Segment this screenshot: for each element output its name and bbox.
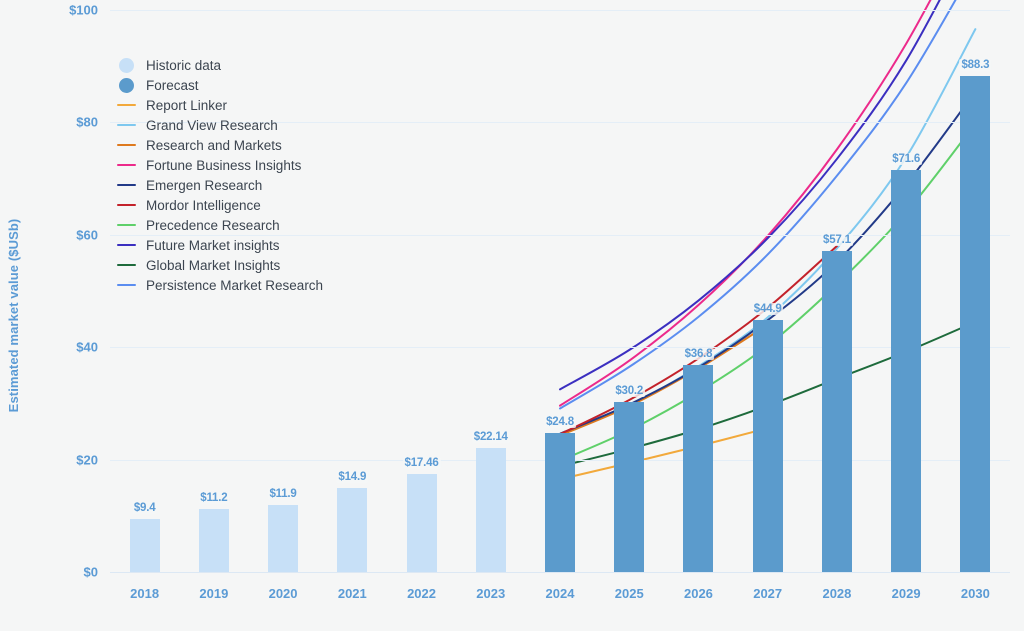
bar-value-label-2030: $88.3: [959, 59, 991, 71]
bar-2019[interactable]: [199, 509, 229, 572]
legend-item-label: Grand View Research: [146, 118, 278, 133]
legend-item-precedence-research[interactable]: Precedence Research: [112, 215, 323, 235]
y-axis-tick-label: $80: [76, 115, 98, 130]
legend-line-icon: [112, 284, 140, 287]
x-axis-tick-label[interactable]: 2027: [753, 586, 782, 601]
legend-line-icon: [112, 124, 140, 127]
legend-item-mordor-intelligence[interactable]: Mordor Intelligence: [112, 195, 323, 215]
legend-item-label: Persistence Market Research: [146, 278, 323, 293]
chart-legend: Historic dataForecastReport LinkerGrand …: [112, 55, 323, 295]
y-axis-tick-label: $60: [76, 227, 98, 242]
bar-2028[interactable]: [822, 251, 852, 572]
bar-2025[interactable]: [614, 402, 644, 572]
legend-item-label: Precedence Research: [146, 218, 280, 233]
legend-swatch: [117, 204, 136, 207]
legend-swatch: [119, 58, 134, 73]
legend-item-label: Research and Markets: [146, 138, 282, 153]
legend-item-label: Forecast: [146, 78, 199, 93]
x-axis-baseline: [110, 572, 1010, 573]
legend-swatch: [117, 184, 136, 187]
legend-item-emergen-research[interactable]: Emergen Research: [112, 175, 323, 195]
legend-item-grand-view-research[interactable]: Grand View Research: [112, 115, 323, 135]
legend-item-future-market-insights[interactable]: Future Market insights: [112, 235, 323, 255]
market-forecast-chart: Estimated market value ($USb) $0$20$40$6…: [0, 0, 1024, 631]
y-axis-tick-label: $0: [84, 565, 98, 580]
legend-swatch: [117, 104, 136, 107]
y-axis-tick-label: $40: [76, 340, 98, 355]
bar-value-label-2020: $11.9: [267, 488, 298, 500]
legend-item-forecast[interactable]: Forecast: [112, 75, 323, 95]
bar-2021[interactable]: [337, 488, 367, 572]
x-axis-tick-label[interactable]: 2018: [130, 586, 159, 601]
legend-line-icon: [112, 164, 140, 167]
legend-item-label: Report Linker: [146, 98, 227, 113]
legend-item-label: Future Market insights: [146, 238, 280, 253]
x-axis-tick-label[interactable]: 2026: [684, 586, 713, 601]
bar-2018[interactable]: [130, 519, 160, 572]
x-axis-tick-label[interactable]: 2022: [407, 586, 436, 601]
bar-value-label-2018: $9.4: [132, 502, 158, 514]
legend-item-research-and-markets[interactable]: Research and Markets: [112, 135, 323, 155]
legend-swatch: [117, 164, 136, 167]
bar-2020[interactable]: [268, 505, 298, 572]
legend-item-label: Global Market Insights: [146, 258, 280, 273]
bar-value-label-2026: $36.8: [683, 348, 715, 360]
bar-value-label-2027: $44.9: [752, 303, 784, 315]
legend-item-fortune-business-insights[interactable]: Fortune Business Insights: [112, 155, 323, 175]
legend-line-icon: [112, 204, 140, 207]
bar-2029[interactable]: [891, 170, 921, 572]
legend-line-icon: [112, 184, 140, 187]
legend-line-icon: [112, 224, 140, 227]
line-report-linker[interactable]: [560, 428, 768, 479]
x-axis-tick-label[interactable]: 2024: [546, 586, 575, 601]
x-axis-tick-label[interactable]: 2030: [961, 586, 990, 601]
x-axis-tick-label[interactable]: 2019: [199, 586, 228, 601]
bar-2024[interactable]: [545, 433, 575, 572]
legend-item-label: Historic data: [146, 58, 221, 73]
bar-value-label-2024: $24.8: [544, 416, 576, 428]
bar-value-label-2021: $14.9: [336, 471, 368, 483]
x-axis-tick-label[interactable]: 2020: [269, 586, 298, 601]
legend-item-label: Emergen Research: [146, 178, 262, 193]
legend-line-icon: [112, 144, 140, 147]
legend-item-label: Fortune Business Insights: [146, 158, 301, 173]
legend-swatch: [117, 284, 136, 287]
bar-2030[interactable]: [960, 76, 990, 572]
y-axis-title: Estimated market value ($USb): [0, 0, 26, 631]
legend-line-icon: [112, 264, 140, 267]
gridline: [110, 347, 1010, 348]
bar-2022[interactable]: [407, 474, 437, 572]
legend-swatch: [119, 78, 134, 93]
bar-value-label-2029: $71.6: [890, 153, 922, 165]
bar-2027[interactable]: [753, 320, 783, 572]
gridline: [110, 10, 1010, 11]
legend-item-global-market-insights[interactable]: Global Market Insights: [112, 255, 323, 275]
x-axis-tick-label[interactable]: 2025: [615, 586, 644, 601]
x-axis-tick-label[interactable]: 2021: [338, 586, 367, 601]
y-axis-tick-label: $20: [76, 452, 98, 467]
bar-value-label-2028: $57.1: [821, 234, 853, 246]
legend-item-persistence-market-research[interactable]: Persistence Market Research: [112, 275, 323, 295]
legend-line-icon: [112, 244, 140, 247]
bar-value-label-2022: $17.46: [403, 457, 441, 469]
legend-swatch: [117, 264, 136, 267]
bar-2026[interactable]: [683, 365, 713, 572]
line-research-and-markets[interactable]: [560, 325, 768, 436]
bar-value-label-2025: $30.2: [613, 385, 645, 397]
x-axis-tick-label[interactable]: 2028: [822, 586, 851, 601]
legend-item-historic-data[interactable]: Historic data: [112, 55, 323, 75]
legend-dot-icon: [112, 78, 140, 93]
y-axis-tick-label: $100: [69, 3, 98, 18]
legend-swatch: [117, 224, 136, 227]
legend-line-icon: [112, 104, 140, 107]
x-axis-tick-label[interactable]: 2023: [476, 586, 505, 601]
legend-dot-icon: [112, 58, 140, 73]
bar-2023[interactable]: [476, 448, 506, 572]
bar-value-label-2019: $11.2: [198, 492, 229, 504]
legend-swatch: [117, 124, 136, 127]
bar-value-label-2023: $22.14: [472, 431, 510, 443]
legend-item-label: Mordor Intelligence: [146, 198, 261, 213]
legend-swatch: [117, 144, 136, 147]
x-axis-tick-label[interactable]: 2029: [892, 586, 921, 601]
legend-swatch: [117, 244, 136, 247]
legend-item-report-linker[interactable]: Report Linker: [112, 95, 323, 115]
